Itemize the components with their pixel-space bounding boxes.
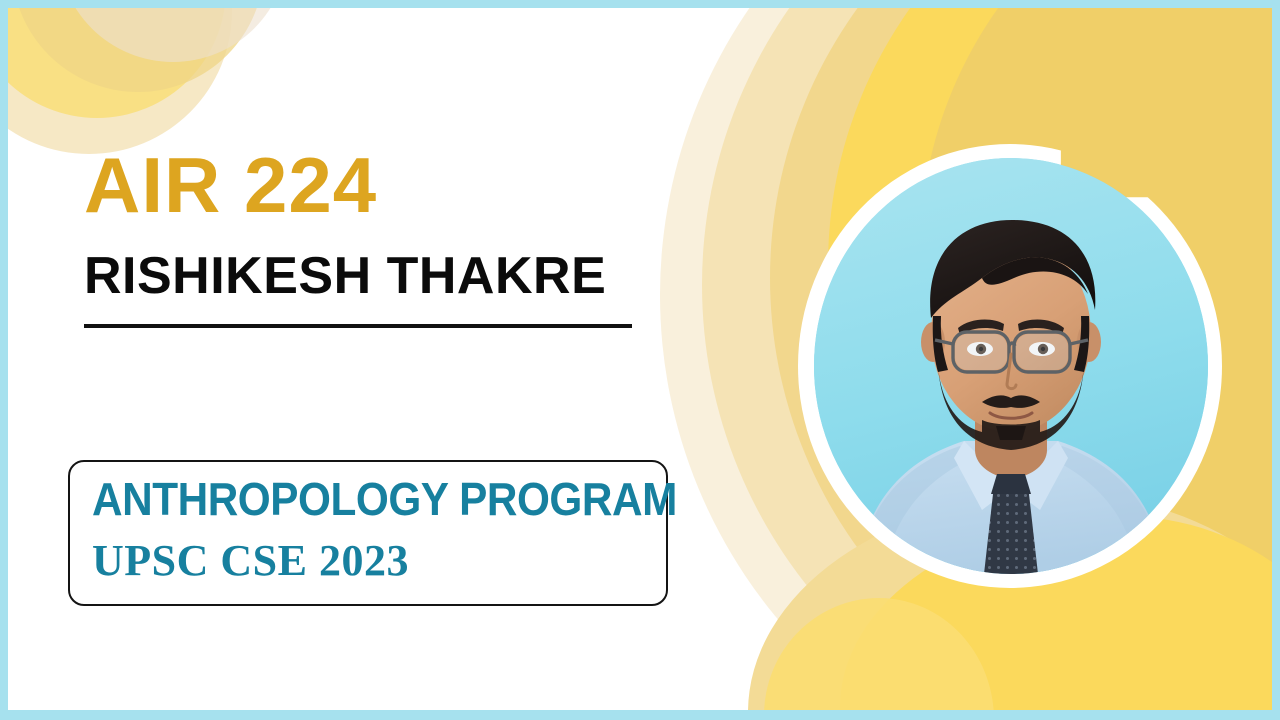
frame-bottom-edge (0, 710, 1280, 720)
program-title: ANTHROPOLOGY PROGRAM (92, 476, 677, 524)
decor-circle-topleft-4 (58, 8, 288, 62)
air-rank: AIR 224 (84, 146, 700, 224)
poster-stage: AIR 224 RISHIKESH THAKRE ANTHROPOLOGY PR… (0, 0, 1280, 720)
decor-circle-topleft-2 (8, 8, 226, 118)
program-exam: UPSC CSE 2023 (92, 538, 409, 584)
frame-right-edge (1272, 0, 1280, 720)
decor-circle-topleft-3 (12, 8, 264, 92)
divider-rule (84, 324, 632, 328)
portrait-container (798, 144, 1222, 588)
decor-blob-bottom-3 (764, 598, 994, 710)
frame-top-edge (0, 0, 1280, 8)
program-box: ANTHROPOLOGY PROGRAM UPSC CSE 2023 (68, 460, 668, 606)
poster-canvas: AIR 224 RISHIKESH THAKRE ANTHROPOLOGY PR… (8, 8, 1272, 710)
decor-circle-topleft-1 (8, 8, 232, 154)
candidate-name: RISHIKESH THAKRE (84, 250, 700, 302)
headline-block: AIR 224 RISHIKESH THAKRE (80, 146, 700, 328)
frame-left-edge (0, 0, 8, 720)
avatar (814, 158, 1208, 574)
